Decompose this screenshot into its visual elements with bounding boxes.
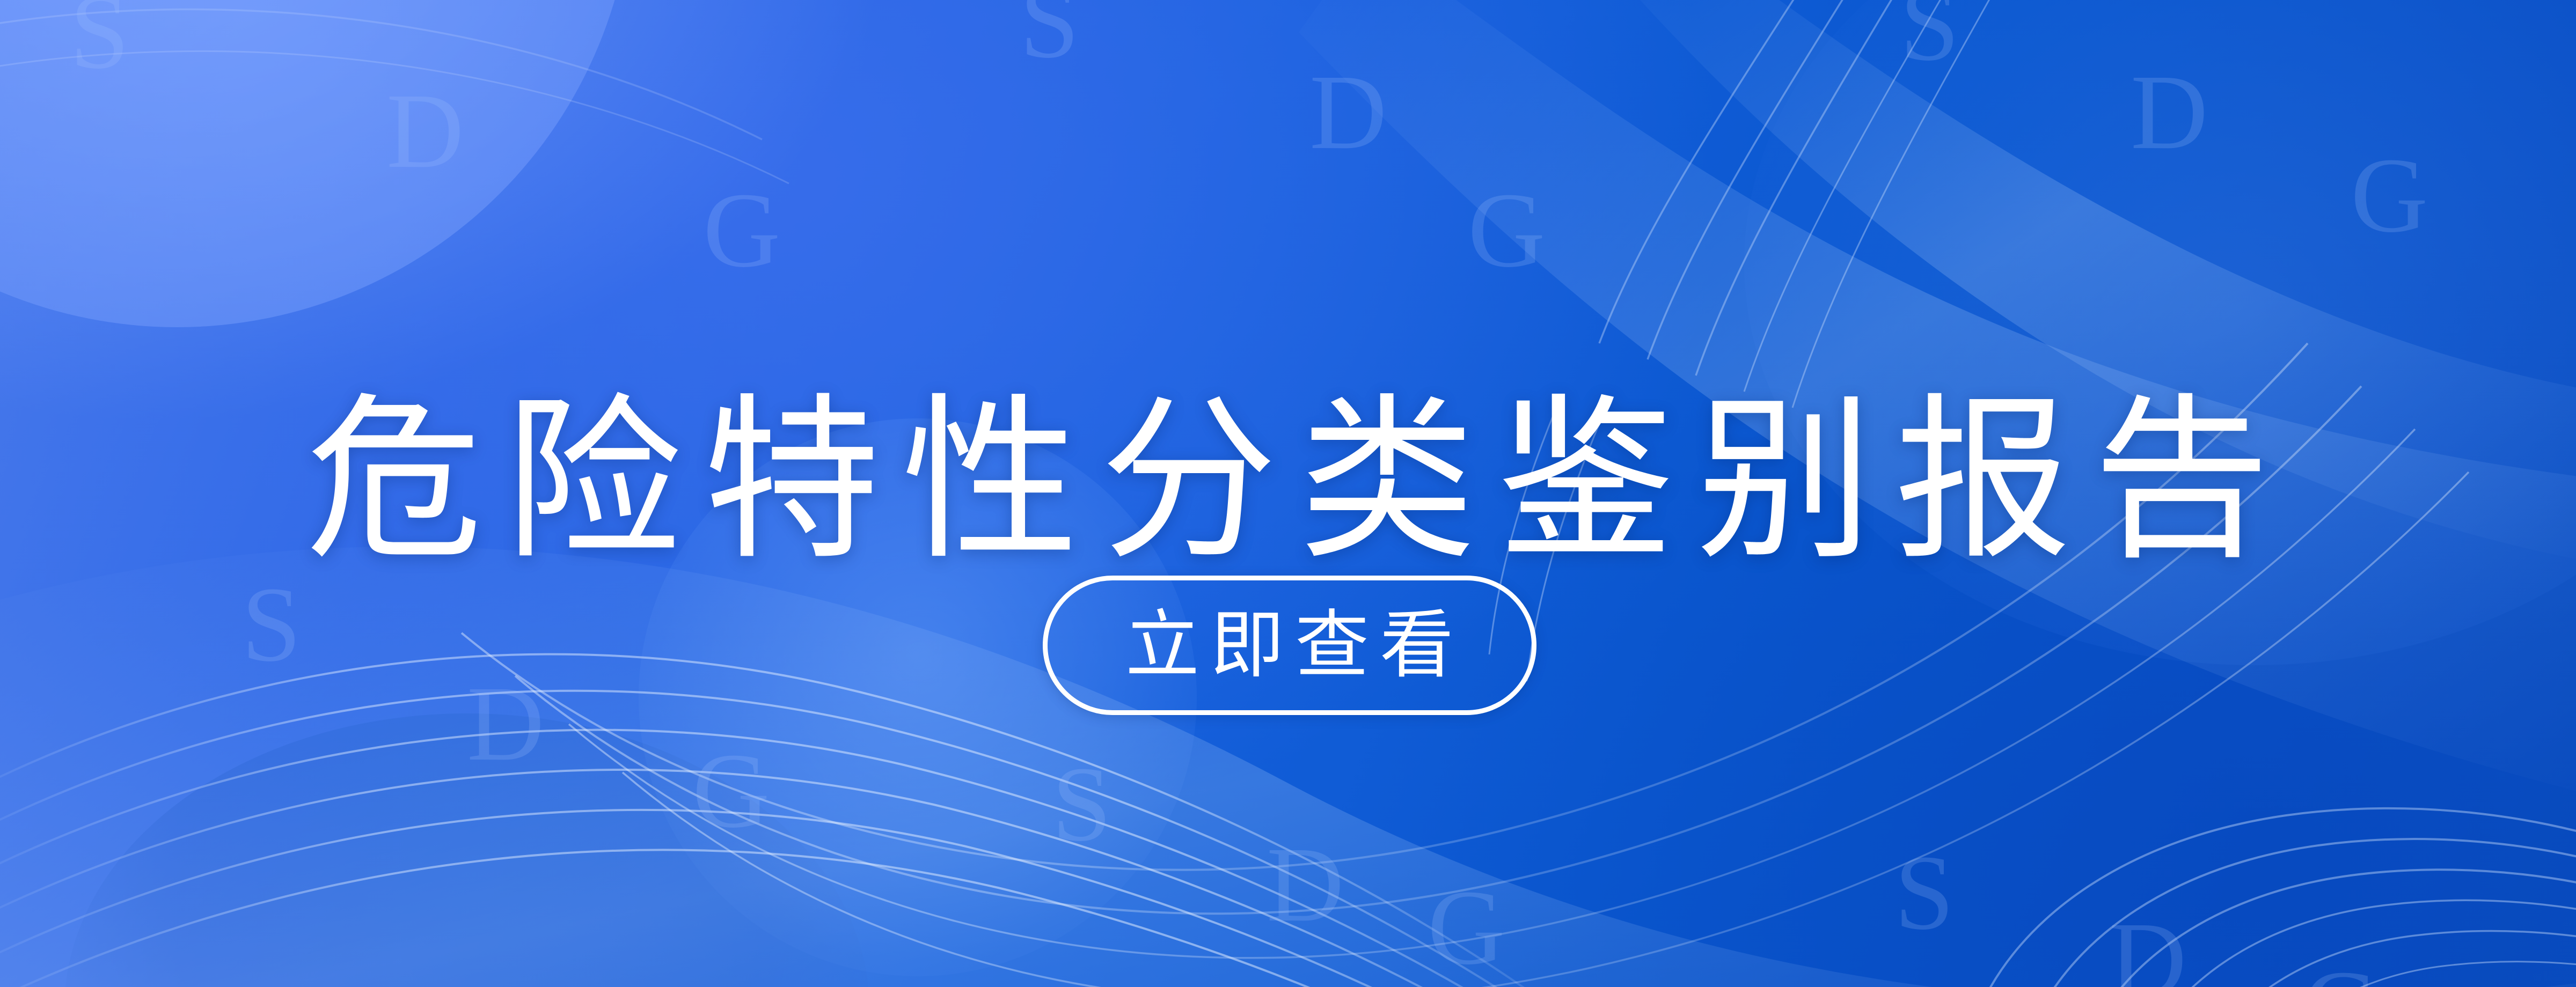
page-title: 危险特性分类鉴别报告 xyxy=(0,385,2576,576)
hazard-report-banner: SDGSDGSDGSDGSDGSDG 危险特性分类鉴别报告 立即查看 xyxy=(0,0,2576,987)
view-now-button-label: 立即查看 xyxy=(1115,608,1465,682)
view-now-button[interactable]: 立即查看 xyxy=(1043,576,1536,715)
banner-content: 危险特性分类鉴别报告 立即查看 xyxy=(0,0,2576,987)
